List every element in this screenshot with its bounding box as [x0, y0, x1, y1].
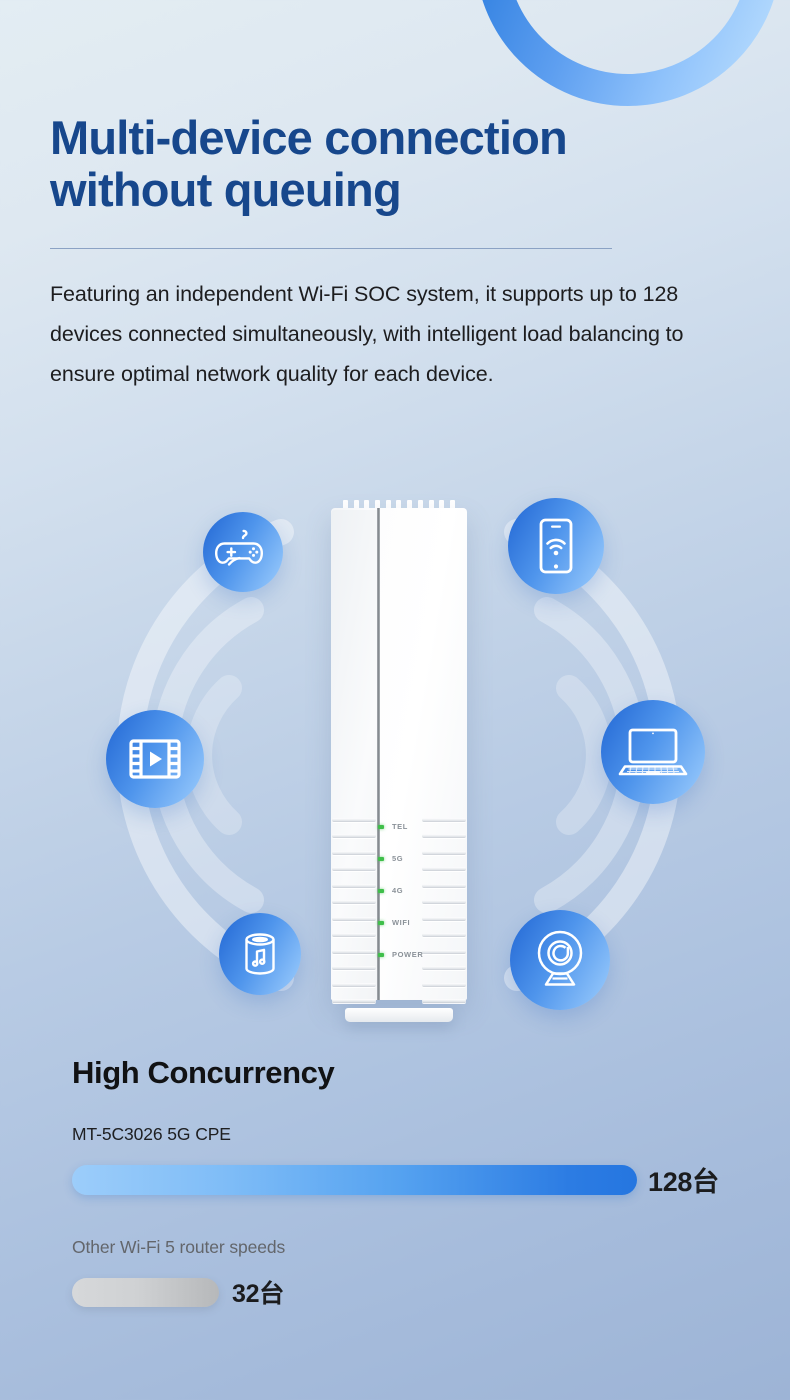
- title-divider: [50, 248, 612, 249]
- description-text: Featuring an independent Wi-Fi SOC syste…: [50, 275, 747, 395]
- bubble-video-streaming[interactable]: [106, 710, 204, 808]
- stats-title: High Concurrency: [72, 1055, 772, 1091]
- bubble-smartphone[interactable]: [508, 498, 604, 594]
- stats-block: High Concurrency MT-5C3026 5G CPE 128台 O…: [72, 1055, 772, 1310]
- progress-bar-primary: [72, 1165, 637, 1195]
- bubble-smart-speaker[interactable]: [219, 913, 301, 995]
- led-label: TEL: [392, 822, 408, 831]
- bar-row-primary: 128台: [72, 1160, 772, 1199]
- led-label: 5G: [392, 854, 403, 863]
- device-scene: TEL 5G 4G WIFI POWER: [0, 470, 790, 1040]
- bar-value-secondary: 32台: [232, 1274, 284, 1310]
- led-indicator-power: POWER: [378, 950, 448, 959]
- bar-label-primary: MT-5C3026 5G CPE: [72, 1124, 772, 1145]
- led-indicator-4g: 4G: [378, 886, 448, 895]
- decorative-ring: [463, 0, 790, 118]
- progress-bar-secondary: [72, 1278, 219, 1307]
- led-dot-icon: [378, 889, 384, 893]
- led-indicator-wifi: WIFI: [378, 918, 448, 927]
- led-indicator-tel: TEL: [378, 822, 448, 831]
- bar-row-secondary: 32台: [72, 1274, 772, 1310]
- led-label: WIFI: [392, 918, 410, 927]
- led-label: POWER: [392, 950, 423, 959]
- page-title: Multi-device connection without queuing: [50, 112, 750, 215]
- header-block: Multi-device connection without queuing …: [50, 112, 750, 395]
- bubble-gaming[interactable]: [203, 512, 283, 592]
- led-dot-icon: [378, 857, 384, 861]
- led-dot-icon: [378, 825, 384, 829]
- led-dot-icon: [378, 921, 384, 925]
- router-led-panel: TEL 5G 4G WIFI POWER: [378, 822, 448, 959]
- bar-label-secondary: Other Wi-Fi 5 router speeds: [72, 1237, 772, 1258]
- router-base-foot: [345, 1008, 453, 1022]
- led-label: 4G: [392, 886, 403, 895]
- led-indicator-5g: 5G: [378, 854, 448, 863]
- led-dot-icon: [378, 953, 384, 957]
- router-vent-grille-left: [332, 818, 376, 1003]
- router-device: TEL 5G 4G WIFI POWER: [331, 500, 467, 1010]
- bubble-security-camera[interactable]: [510, 910, 610, 1010]
- bar-value-primary: 128台: [648, 1160, 719, 1199]
- bubble-laptop[interactable]: [601, 700, 705, 804]
